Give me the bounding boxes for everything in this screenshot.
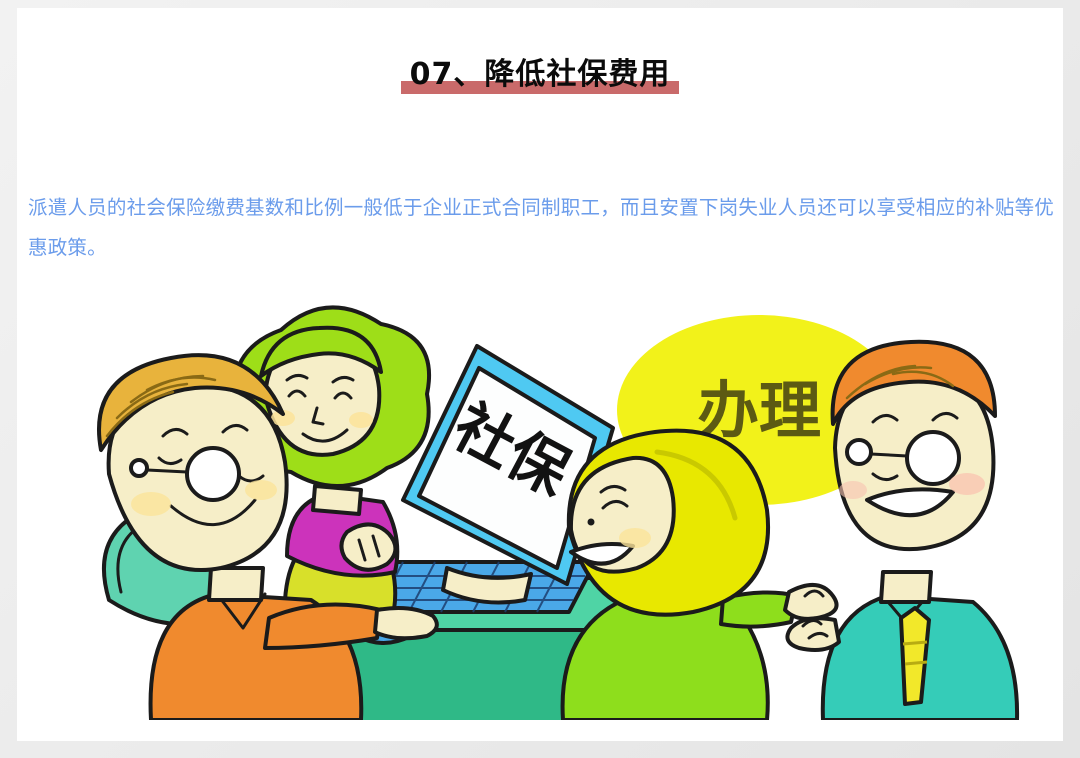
- body-paragraph: 派遣人员的社会保险缴费基数和比例一般低于企业正式合同制职工，而且安置下岗失业人员…: [28, 188, 1054, 268]
- page-title: 07、降低社保费用: [406, 57, 675, 92]
- slide-sheet: 07、降低社保费用 派遣人员的社会保险缴费基数和比例一般低于企业正式合同制职工，…: [17, 8, 1063, 741]
- title-inner: 07、降低社保费用: [406, 55, 675, 95]
- title-block: 07、降低社保费用: [17, 55, 1063, 111]
- slide-page: 07、降低社保费用 派遣人员的社会保险缴费基数和比例一般低于企业正式合同制职工，…: [0, 0, 1080, 758]
- illustration-cartoon-people-at-computer: 办理: [47, 300, 1037, 720]
